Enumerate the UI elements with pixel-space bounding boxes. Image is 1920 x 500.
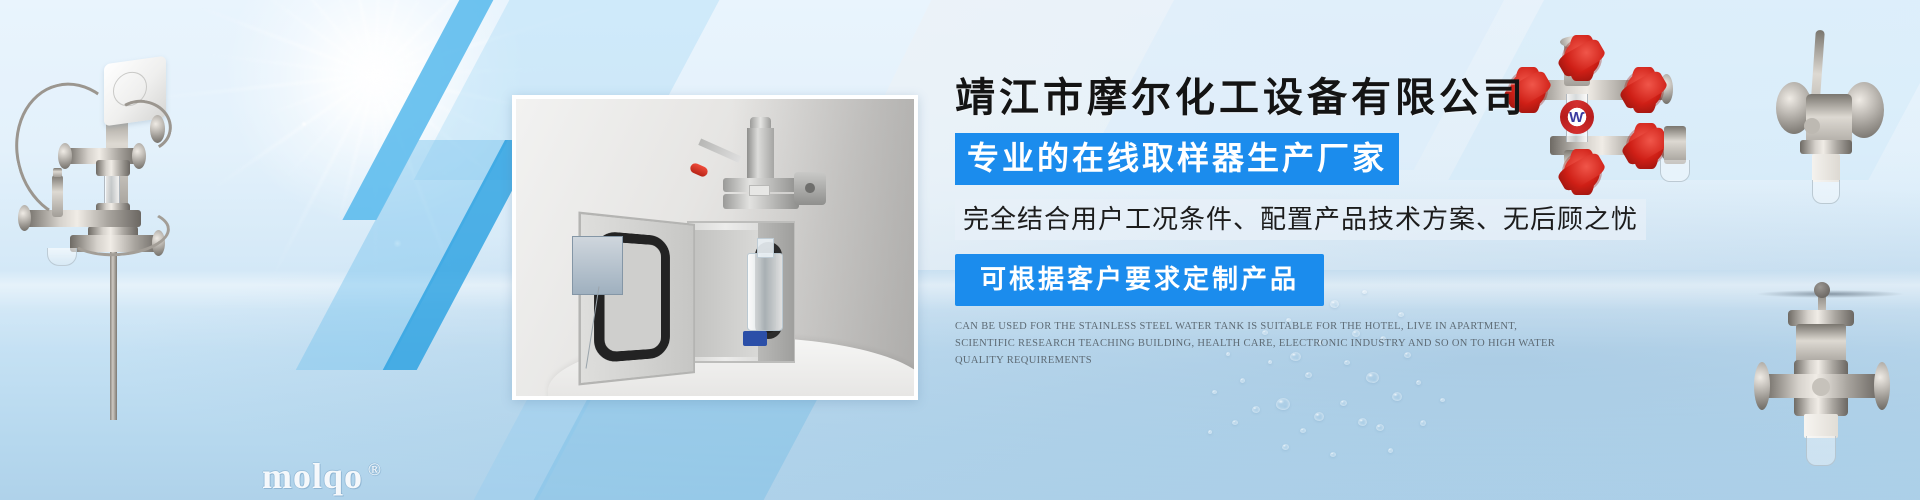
water-droplet [1208,430,1212,434]
water-droplet [1305,372,1312,378]
water-droplet [1388,448,1393,453]
product-pole-mounted-sampler [0,20,220,310]
valve-shadow-ellipse [1756,290,1904,298]
watermark-logo: molqo® [262,455,382,497]
company-name: 靖江市摩尔化工设备有限公司 [955,76,1755,120]
red-handwheel [1564,40,1600,76]
valve-flange-right [1874,362,1890,410]
water-droplet [1420,420,1426,426]
water-droplet [1300,428,1306,433]
sample-bottle-cap [743,331,767,346]
tagline-highlight-bar: 专业的在线取样器生产厂家 [955,133,1399,185]
valve-bonnet [1800,140,1852,154]
sampler-flange [18,205,31,231]
water-droplet [1376,424,1384,431]
water-droplet [1212,390,1217,394]
valve-sample-bottle [1806,436,1836,466]
valve-flange [723,194,799,209]
cabinet-top-valve [723,117,799,227]
sample-bottle [747,253,783,330]
water-droplet [1252,406,1260,413]
valve-lower-fitting [1804,414,1838,438]
water-droplet [1282,444,1289,450]
sampling-cabinet-photo [516,99,914,396]
water-droplet [1340,400,1347,406]
valve-neck [747,128,774,183]
sampler-vessel [47,248,77,266]
valve-nameplate [1804,118,1820,134]
water-droplet [1416,380,1421,385]
water-droplet [1366,372,1379,383]
valve-nameplate [749,185,770,196]
valve-flange-left [1754,362,1770,410]
valve-side-flange [794,172,826,205]
sub-headline: 完全结合用户工况条件、配置产品技术方案、无后顾之忧 [955,199,1646,240]
valve-lever [698,139,741,163]
valve-nameplate [1812,378,1830,396]
lens-flare-dot [300,120,308,128]
registered-trademark-icon: ® [368,460,382,479]
product-flange-sampling-valve [1742,262,1920,467]
custom-product-bar: 可根据客户要求定制产品 [955,254,1324,306]
headline-block: 靖江市摩尔化工设备有限公司 专业的在线取样器生产厂家 完全结合用户工况条件、配置… [955,76,1755,369]
water-droplet [1392,392,1402,401]
watermark-text: molqo [262,456,363,496]
water-droplet [1330,452,1336,457]
english-description: CAN BE USED FOR THE STAINLESS STEEL WATE… [955,318,1565,369]
promo-banner: Ⱳ 靖江市摩尔化工设备有限公司 专业的在线取样器生产厂家 完全结合用户工况条件、 [0,0,1920,500]
water-droplet [1314,412,1324,421]
valve-lever-red-grip [688,162,709,178]
water-droplet [1440,398,1445,402]
water-droplet [1240,378,1245,383]
water-droplet [1232,420,1238,425]
product-photo-frame [512,95,918,400]
valve-sample-bottle [1812,180,1840,204]
water-droplet [1358,418,1367,426]
valve-stem-knob [1814,282,1830,298]
water-droplet [1276,398,1290,410]
valve-outlet-vessel [1812,154,1840,182]
product-lever-flange-valve [1760,22,1910,207]
